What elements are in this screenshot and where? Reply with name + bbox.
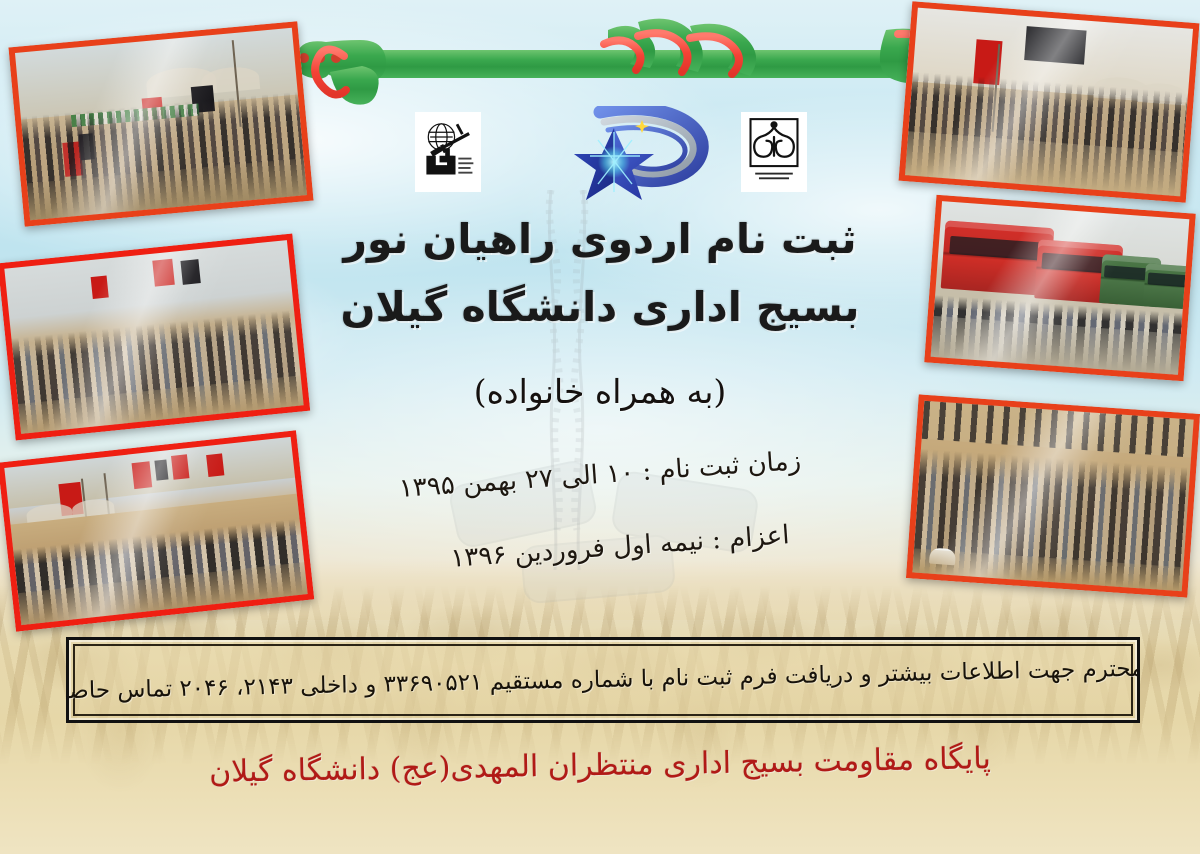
- guilan-university-logo: دانشگاه گیلان: [741, 112, 807, 192]
- bus-icon: [1143, 263, 1189, 310]
- photo-ceremony-left-caption: مراسم زیارت در یادمان با پرچم‌های عزا: [296, 21, 297, 22]
- photo-buses-right: عکس یادگاری کاروان در کنار اتوبوس‌ها: [924, 195, 1196, 382]
- photo-procession-left-caption: راهپیمایی زائران در مسیر خاکریز: [295, 430, 296, 431]
- photo-buses-right-scene: [931, 201, 1190, 375]
- photo-procession-left: راهپیمایی زائران در مسیر خاکریز: [0, 430, 314, 631]
- photo-gathering-left-caption: نشست زائران روی شن‌های منطقه: [291, 233, 292, 234]
- center-emblem: [530, 106, 710, 206]
- photo-audience-right: جمع شنوندگان در یادمان شهدا: [906, 394, 1200, 597]
- photo-flagmarch-right-scene: [905, 8, 1193, 197]
- subtitle-family-note: (به همراه خانواده): [300, 372, 900, 411]
- photo-ceremony-left: مراسم زیارت در یادمان با پرچم‌های عزا: [8, 21, 313, 227]
- logo-row: دانشگاه گیلان: [405, 112, 815, 204]
- photo-procession-left-scene: [4, 437, 307, 625]
- contact-notice-inner: همکاران محترم جهت اطلاعات بیشتر و دریافت…: [73, 644, 1133, 716]
- contact-notice-text: همکاران محترم جهت اطلاعات بیشتر و دریافت…: [66, 654, 1140, 706]
- photo-gathering-left: نشست زائران روی شن‌های منطقه: [0, 233, 310, 440]
- departure-date: اعزام : نیمه اول فروردین ۱۳۹۶: [270, 508, 970, 587]
- photo-audience-right-scene: [912, 401, 1193, 591]
- photo-buses-right-caption: عکس یادگاری کاروان در کنار اتوبوس‌ها: [1195, 214, 1196, 215]
- irgc-emblem-icon: [417, 114, 479, 190]
- photo-ceremony-left-scene: [15, 28, 307, 221]
- photo-flagmarch-right: حرکت کاروان با پرچم سرخ در اردوگاه: [899, 1, 1200, 203]
- guilan-emblem-icon: [743, 114, 805, 190]
- photo-gathering-left-scene: [4, 240, 303, 434]
- title-line-1: ثبت نام اردوی راهیان نور: [250, 205, 950, 273]
- title-line-2: بسیج اداری دانشگاه گیلان: [250, 273, 950, 341]
- poster-canvas: دعوتنامه: [0, 0, 1200, 854]
- photo-flagmarch-right-caption: حرکت کاروان با پرچم سرخ در اردوگاه: [1198, 23, 1199, 24]
- dates-block: زمان ثبت نام : ۱۰ الی ۲۷ بهمن ۱۳۹۵ اعزام…: [270, 460, 930, 604]
- contact-notice-bar: همکاران محترم جهت اطلاعات بیشتر و دریافت…: [66, 637, 1140, 723]
- main-title: ثبت نام اردوی راهیان نور بسیج اداری دانش…: [250, 205, 950, 341]
- irgc-logo: [415, 112, 481, 192]
- star-swoosh-icon: [530, 106, 710, 206]
